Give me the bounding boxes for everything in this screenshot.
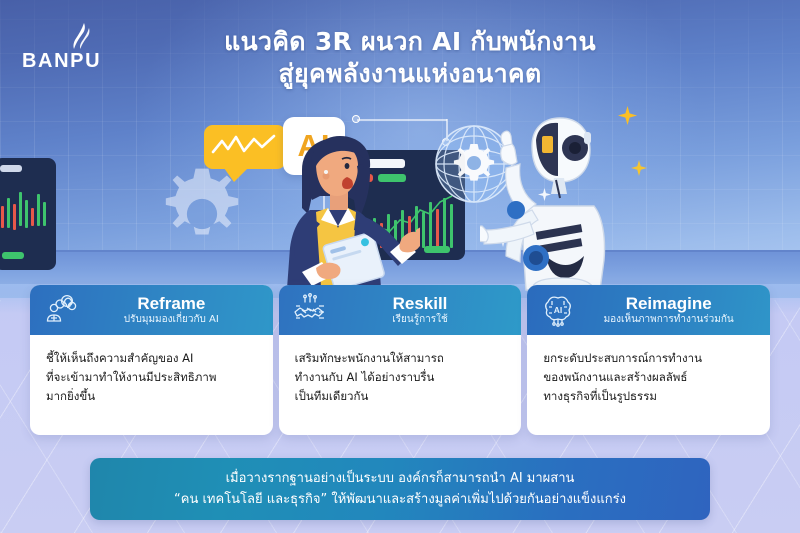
card-body: ชี้ให้เห็นถึงความสำคัญของ AI ที่จะเข้ามา… — [30, 335, 273, 416]
card-body-line: ทำงานกับ AI ได้อย่างราบรื่น — [295, 368, 506, 387]
card-body-line: ที่จะเข้ามาทำให้งานมีประสิทธิภาพ — [46, 368, 257, 387]
title-line-1: แนวคิด 3R ผนวก AI กับพนักงาน — [150, 26, 670, 58]
pillar-card-reframe[interactable]: Reframe ปรับมุมมองเกี่ยวกับ AI ชี้ให้เห็… — [30, 285, 273, 435]
card-header: AI Reimagine มองเห็นภาพการทำงานร่วมกัน — [527, 285, 770, 335]
card-body-line: ชี้ให้เห็นถึงความสำคัญของ AI — [46, 349, 257, 368]
pillar-card-reimagine[interactable]: AI Reimagine มองเห็นภาพการทำงานร่วมกัน ย… — [527, 285, 770, 435]
card-body-line: เป็นทีมเดียวกัน — [295, 387, 506, 406]
card-body: เสริมทักษะพนักงานให้สามารถ ทำงานกับ AI ไ… — [279, 335, 522, 416]
ai-brain-circuit-icon: AI — [541, 293, 575, 327]
banner-line-1: เมื่อวางรากฐานอย่างเป็นระบบ องค์กรก็สามา… — [226, 468, 575, 489]
card-header: Reframe ปรับมุมมองเกี่ยวกับ AI — [30, 285, 273, 335]
card-body-line: ของพนักงานและสร้างผลลัพธ์ — [543, 368, 754, 387]
humanoid-robot-icon — [480, 110, 630, 305]
person-thought-bubble-lightbulb-icon — [44, 293, 78, 327]
card-subtitle: มองเห็นภาพการทำงานร่วมกัน — [583, 313, 754, 327]
summary-banner: เมื่อวางรากฐานอย่างเป็นระบบ องค์กรก็สามา… — [90, 458, 710, 520]
card-header: Reskill เรียนรู้การใช้ — [279, 285, 522, 335]
svg-text:AI: AI — [554, 305, 563, 315]
card-title: Reskill — [335, 294, 506, 313]
card-title: Reimagine — [583, 294, 754, 313]
card-title: Reframe — [86, 294, 257, 313]
card-body-line: เสริมทักษะพนักงานให้สามารถ — [295, 349, 506, 368]
title-line-2: สู่ยุคพลังงานแห่งอนาคต — [150, 58, 670, 90]
card-body-line: ทางธุรกิจที่เป็นรูปธรรม — [543, 387, 754, 406]
card-title-block: Reimagine มองเห็นภาพการทำงานร่วมกัน — [583, 294, 760, 327]
connector-line — [357, 119, 447, 121]
businesswoman-with-tablet-icon — [250, 130, 420, 302]
human-robot-handshake-circuit-icon — [293, 293, 327, 327]
card-body-line: ยกระดับประสบการณ์การทำงาน — [543, 349, 754, 368]
card-title-block: Reskill เรียนรู้การใช้ — [335, 294, 512, 327]
card-subtitle: เรียนรู้การใช้ — [335, 313, 506, 327]
connector-node — [352, 115, 360, 123]
card-subtitle: ปรับมุมมองเกี่ยวกับ AI — [86, 313, 257, 327]
sparkle-icon — [631, 160, 647, 180]
card-title-block: Reframe ปรับมุมมองเกี่ยวกับ AI — [86, 294, 263, 327]
pillar-card-reskill[interactable]: Reskill เรียนรู้การใช้ เสริมทักษะพนักงาน… — [279, 285, 522, 435]
pillar-cards: Reframe ปรับมุมมองเกี่ยวกับ AI ชี้ให้เห็… — [30, 285, 770, 435]
card-body: ยกระดับประสบการณ์การทำงาน ของพนักงานและส… — [527, 335, 770, 416]
card-body-line: มากยิ่งขึ้น — [46, 387, 257, 406]
page-title: แนวคิด 3R ผนวก AI กับพนักงาน สู่ยุคพลังง… — [150, 26, 670, 90]
brand-logo: BANPU — [22, 22, 132, 70]
brand-name: BANPU — [22, 50, 132, 73]
infographic-canvas: BANPU แนวคิด 3R ผนวก AI กับพนักงาน สู่ยุ… — [0, 0, 800, 533]
banner-line-2: “คน เทคโนโลยี และธุรกิจ” ให้พัฒนาและสร้า… — [174, 489, 626, 510]
side-chart-screen — [0, 158, 56, 270]
hero-illustration: AI — [0, 100, 800, 300]
